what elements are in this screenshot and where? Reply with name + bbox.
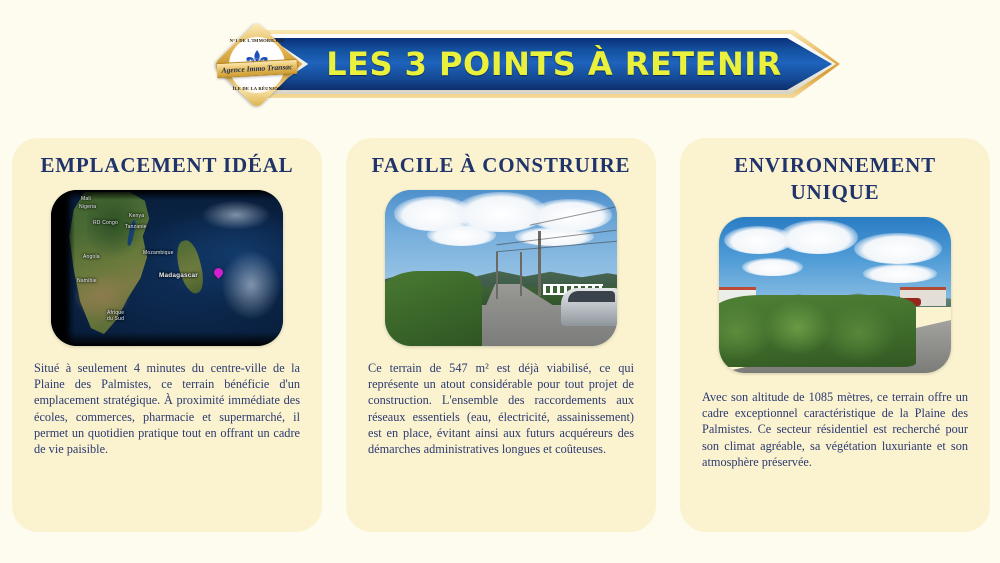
map-label: Afrique du Sud	[107, 310, 124, 322]
header-banner: LES 3 POINTS À RETENIR ⚜ N°1 DE L'IMMOBI…	[0, 0, 1000, 130]
map-label: Tanzanie	[125, 224, 147, 230]
card-photo-street-view	[385, 190, 617, 346]
card-title: ENVIRONNEMENT UNIQUE	[680, 138, 990, 206]
cloud-wisp	[201, 200, 271, 230]
map-label: RD Congo	[93, 220, 118, 226]
cloud-wisp	[221, 250, 281, 320]
cloud	[742, 258, 802, 277]
title-arrow-banner: LES 3 POINTS À RETENIR	[262, 30, 840, 98]
card-body-text: Ce terrain de 547 m² est déjà viabilisé,…	[346, 346, 656, 457]
space-edge-bottom	[51, 332, 283, 346]
map-label: Namibie	[77, 278, 97, 284]
street-photo	[385, 190, 617, 346]
card-title: EMPLACEMENT IDÉAL	[12, 138, 322, 179]
card-emplacement-ideal: EMPLACEMENT IDÉAL MaliNigeriaRD CongoTan…	[12, 138, 322, 532]
globe-background: MaliNigeriaRD CongoTanzanieKenyaAngolaNa…	[51, 190, 283, 346]
utility-pole	[520, 252, 522, 296]
card-photo-vegetation	[719, 217, 951, 373]
card-title: FACILE À CONSTRUIRE	[346, 138, 656, 179]
agency-logo: ⚜ N°1 DE L'IMMOBILIER Agence Immo Transa…	[216, 24, 298, 106]
utility-pole	[538, 231, 541, 297]
points-card-row: EMPLACEMENT IDÉAL MaliNigeriaRD CongoTan…	[0, 138, 1000, 538]
green-hedge	[719, 295, 916, 367]
logo-ribbon-text: Agence Immo Transac	[221, 62, 292, 75]
map-label: Mozambique	[143, 250, 174, 256]
card-photo-satellite-globe: MaliNigeriaRD CongoTanzanieKenyaAngolaNa…	[51, 190, 283, 346]
card-facile-a-construire: FACILE À CONSTRUIRE	[346, 138, 656, 532]
card-environnement-unique: ENVIRONNEMENT UNIQUE Avec son altitude d…	[680, 138, 990, 532]
cloud	[863, 264, 937, 283]
logo-top-text: N°1 DE L'IMMOBILIER	[216, 38, 298, 43]
space-edge-left	[51, 190, 75, 346]
card-body-text: Avec son altitude de 1085 mètres, ce ter…	[680, 373, 990, 470]
page-title: LES 3 POINTS À RETENIR	[298, 45, 804, 83]
logo-bottom-text: ÎLE DE LA RÉUNION	[216, 86, 298, 91]
banner-blue-face: LES 3 POINTS À RETENIR	[270, 38, 832, 90]
utility-pole	[496, 252, 498, 299]
car-silver-window	[568, 291, 614, 302]
map-label: Nigeria	[79, 204, 96, 210]
map-label: Angola	[83, 254, 100, 260]
vegetation-photo	[719, 217, 951, 373]
roadside-hedge	[385, 271, 482, 346]
map-label: Mali	[81, 196, 91, 202]
map-label: Kenya	[129, 213, 144, 219]
map-label: Madagascar	[159, 272, 198, 279]
card-body-text: Situé à seulement 4 minutes du centre-vi…	[12, 346, 322, 457]
cloud	[854, 233, 942, 264]
